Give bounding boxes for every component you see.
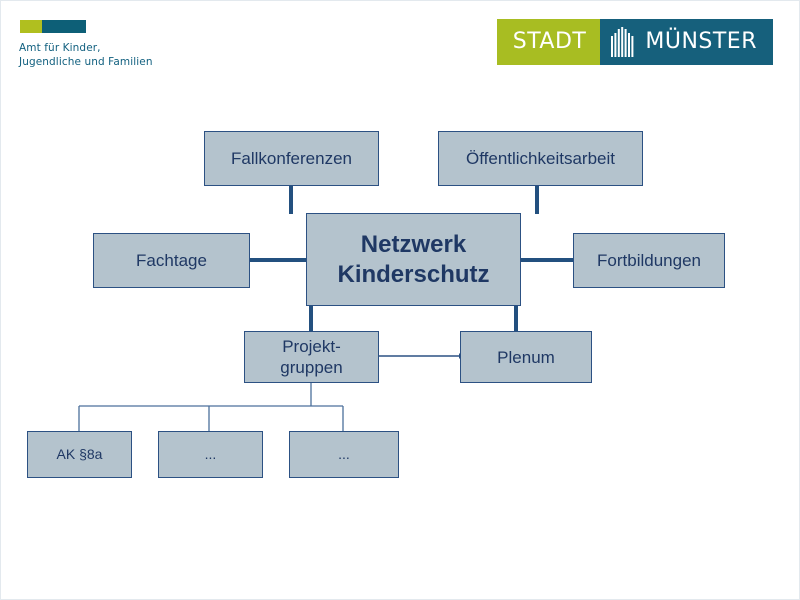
- node-plenum[interactable]: Plenum: [460, 331, 592, 383]
- slide-canvas: Amt für Kinder, Jugendliche und Familien…: [0, 0, 800, 600]
- node-fortbildungen-label: Fortbildungen: [597, 250, 701, 271]
- node-oeffentlichkeitsarbeit-label: Öffentlichkeitsarbeit: [466, 148, 615, 169]
- node-fallkonferenzen[interactable]: Fallkonferenzen: [204, 131, 379, 186]
- node-fachtage[interactable]: Fachtage: [93, 233, 250, 288]
- node-platzhalter-1[interactable]: ...: [158, 431, 263, 478]
- node-fortbildungen[interactable]: Fortbildungen: [573, 233, 725, 288]
- node-platzhalter-2-label: ...: [338, 444, 350, 465]
- node-fachtage-label: Fachtage: [136, 250, 207, 271]
- node-oeffentlichkeitsarbeit[interactable]: Öffentlichkeitsarbeit: [438, 131, 643, 186]
- node-projektgruppen-label: Projekt- gruppen: [280, 336, 342, 378]
- node-plenum-label: Plenum: [497, 347, 555, 368]
- node-netzwerk-kinderschutz[interactable]: Netzwerk Kinderschutz: [306, 213, 521, 306]
- node-projektgruppen[interactable]: Projekt- gruppen: [244, 331, 379, 383]
- node-platzhalter-2[interactable]: ...: [289, 431, 399, 478]
- node-ak-8a-label: AK §8a: [57, 444, 103, 465]
- node-netzwerk-kinderschutz-label: Netzwerk Kinderschutz: [337, 230, 489, 290]
- connector-group-thin: [79, 383, 343, 431]
- node-fallkonferenzen-label: Fallkonferenzen: [231, 148, 352, 169]
- node-ak-8a[interactable]: AK §8a: [27, 431, 132, 478]
- node-platzhalter-1-label: ...: [205, 444, 217, 465]
